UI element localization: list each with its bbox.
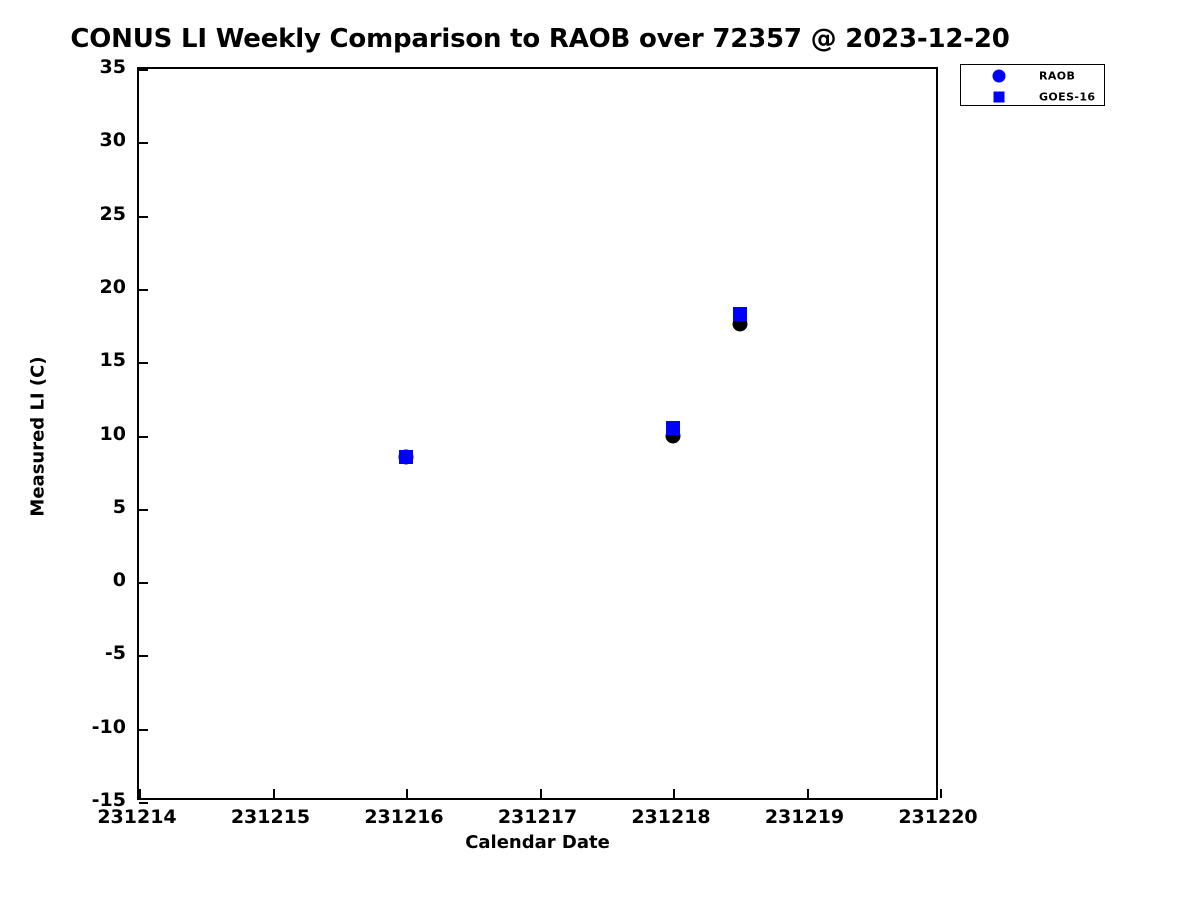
y-tick [139,582,148,584]
legend-marker-square-icon [994,91,1005,102]
y-tick [139,142,148,144]
y-tick [139,729,148,731]
data-point-goes-16 [666,421,680,435]
x-tick-label: 231216 [364,806,443,828]
y-tick [139,69,148,71]
legend-label: GOES-16 [1039,90,1096,103]
x-tick-label: 231214 [97,806,176,828]
y-axis-title: Measured LI (C) [28,337,49,537]
chart-title: CONUS LI Weekly Comparison to RAOB over … [0,24,1080,54]
x-tick [406,789,408,798]
chart-legend: RAOBGOES-16 [960,64,1105,106]
data-point-goes-16 [399,450,413,464]
chart-figure: CONUS LI Weekly Comparison to RAOB over … [0,0,1200,900]
y-tick-label: 5 [113,496,126,518]
y-tick [139,289,148,291]
x-tick-label: 231217 [498,806,577,828]
x-tick [273,789,275,798]
y-tick-label: -10 [92,716,126,738]
plot-area [137,67,938,800]
y-tick [139,509,148,511]
y-tick [139,802,148,804]
x-tick-label: 231218 [631,806,710,828]
y-tick-label: 25 [100,203,126,225]
legend-entry: GOES-16 [961,86,1104,107]
y-tick-label: 30 [100,129,126,151]
legend-label: RAOB [1039,69,1075,82]
y-tick-label: 35 [100,56,126,78]
x-tick-label: 231219 [765,806,844,828]
y-tick [139,436,148,438]
y-tick-label: -5 [105,642,126,664]
legend-entry: RAOB [961,65,1104,86]
legend-marker-circle-icon [993,69,1006,82]
x-axis-title: Calendar Date [137,832,938,853]
y-tick-label: 10 [100,423,126,445]
x-tick-label: 231220 [898,806,977,828]
y-tick-label: 20 [100,276,126,298]
x-tick [540,789,542,798]
y-tick-label: 15 [100,349,126,371]
y-tick [139,216,148,218]
x-tick [139,789,141,798]
y-tick [139,655,148,657]
x-tick [673,789,675,798]
x-tick [807,789,809,798]
data-point-goes-16 [733,307,747,321]
x-tick [940,789,942,798]
x-tick-label: 231215 [231,806,310,828]
y-tick-label: 0 [113,569,126,591]
y-tick [139,362,148,364]
y-axis-tick-labels: 35302520151050-5-10-15 [0,0,126,900]
